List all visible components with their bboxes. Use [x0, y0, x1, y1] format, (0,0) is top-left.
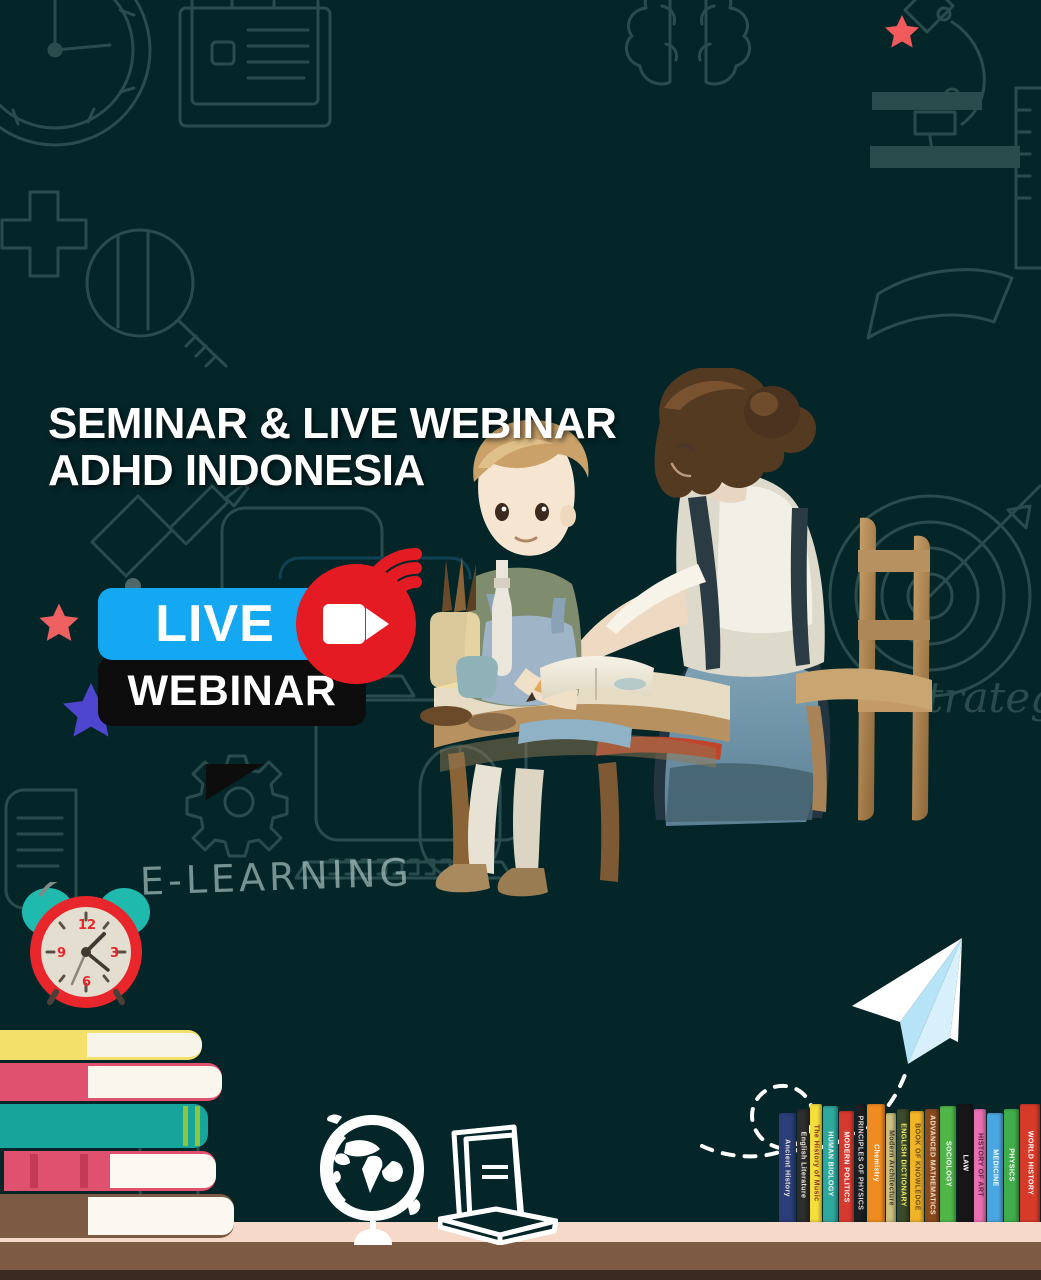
book-spine-title: Chemistry [872, 1144, 879, 1182]
book-spine-title: ADVANCED MATHEMATICS [928, 1115, 935, 1215]
book-spine-title: WORLD HISTORY [1026, 1131, 1033, 1195]
title-line-2: ADHD INDONESIA [48, 447, 616, 494]
book-spine: The History of Music [810, 1104, 822, 1222]
book-spine-title: English Literature [799, 1132, 806, 1199]
book-spine: MEDICINE [987, 1113, 1003, 1222]
clock-doodle [0, 0, 150, 145]
live-webinar-badge[interactable]: LIVE WEBINAR [98, 588, 398, 726]
book-spine-title: PRINCIPLES OF PHYSICS [857, 1116, 864, 1211]
continent-4 [334, 1153, 350, 1165]
stacked-book [0, 1104, 208, 1148]
book-spine-title: LAW [961, 1155, 968, 1172]
book-spine-title: PHYSICS [1008, 1149, 1015, 1183]
continent-1 [344, 1140, 380, 1156]
book-spines-row: Ancient HistoryEnglish LiteratureThe His… [779, 1104, 1041, 1222]
badge-tail [206, 764, 264, 800]
globe-base [354, 1229, 392, 1245]
continent-5 [333, 1171, 341, 1183]
book-spine-title: HISTORY OF ART [976, 1133, 983, 1197]
book-spine: HISTORY OF ART [974, 1109, 986, 1222]
book-spine-title: The History of Music [812, 1125, 819, 1202]
book-spine-title: ENGLISH DICTIONARY [899, 1124, 906, 1208]
book-spine-title: MEDICINE [991, 1149, 998, 1186]
alarm-clock: 12 3 6 9 [16, 882, 156, 1022]
flask-doodle [868, 270, 1012, 338]
book-spine: MODERN POLITICS [839, 1111, 854, 1222]
globe-meridian [322, 1131, 346, 1207]
book-stack [0, 1030, 234, 1238]
stacked-book [0, 1194, 234, 1238]
magnifier-doodle [87, 230, 226, 366]
continent-2 [362, 1156, 382, 1193]
svg-text:6: 6 [82, 975, 91, 990]
book-spine-title: SOCIOLOGY [944, 1141, 951, 1187]
title-line-1: SEMINAR & LIVE WEBINAR [48, 400, 616, 447]
brain-doodle [626, 0, 749, 84]
clipboard-doodle [180, 0, 330, 126]
book-spine: SOCIOLOGY [940, 1106, 956, 1222]
book-spine: WORLD HISTORY [1020, 1104, 1041, 1222]
svg-text:9: 9 [57, 946, 66, 961]
book-spine: LAW [957, 1104, 973, 1222]
stacked-book [0, 1063, 222, 1101]
book-spine: ENGLISH DICTIONARY [897, 1109, 909, 1222]
book-spine: Chemistry [867, 1104, 885, 1222]
video-camera-glyph [323, 604, 389, 644]
badge-live-label: LIVE [155, 598, 309, 650]
book-spine: ADVANCED MATHEMATICS [925, 1109, 939, 1222]
video-camera-icon[interactable] [296, 564, 416, 684]
book-spine: Modern Architecture [886, 1113, 896, 1222]
book-spine-title: Ancient History [784, 1139, 791, 1197]
book-spine-title: Modern Architecture [887, 1130, 894, 1206]
book-spine: BOOK OF KNOWLEDGE [910, 1111, 924, 1222]
book-spine: Ancient History [779, 1113, 796, 1222]
poster-canvas: strategy [0, 0, 1041, 1280]
continent-3 [382, 1161, 403, 1182]
svg-text:12: 12 [78, 918, 96, 933]
star-accent-red [36, 600, 82, 646]
book-spine-title: MODERN POLITICS [843, 1131, 850, 1202]
standing-book-chalk-icon [438, 1123, 558, 1250]
stacked-book [0, 1030, 202, 1060]
book-spine: HUMAN BIOLOGY [823, 1106, 838, 1222]
shelf-bottom-edge [0, 1270, 1041, 1280]
star-accent-top-red [882, 12, 922, 52]
book-spine: PHYSICS [1004, 1109, 1019, 1222]
paper-plane-icon [852, 938, 962, 1064]
pen-doodle [92, 484, 248, 576]
camera-body [323, 604, 365, 644]
svg-text:3: 3 [110, 946, 119, 961]
page-title: SEMINAR & LIVE WEBINAR ADHD INDONESIA [48, 400, 616, 494]
plus-doodle [2, 192, 86, 276]
stacked-book [4, 1151, 216, 1191]
book-spine-title: HUMAN BIOLOGY [827, 1131, 834, 1196]
book-spine: English Literature [797, 1109, 809, 1222]
globe-mount-top [327, 1114, 342, 1124]
book-spine: PRINCIPLES OF PHYSICS [855, 1104, 866, 1222]
book-spine-title: BOOK OF KNOWLEDGE [914, 1123, 921, 1211]
globe-chalk-icon [308, 1107, 438, 1252]
camera-lens [366, 608, 389, 640]
ruler-doodle [1016, 88, 1041, 268]
badge-webinar-label: WEBINAR [128, 670, 337, 713]
